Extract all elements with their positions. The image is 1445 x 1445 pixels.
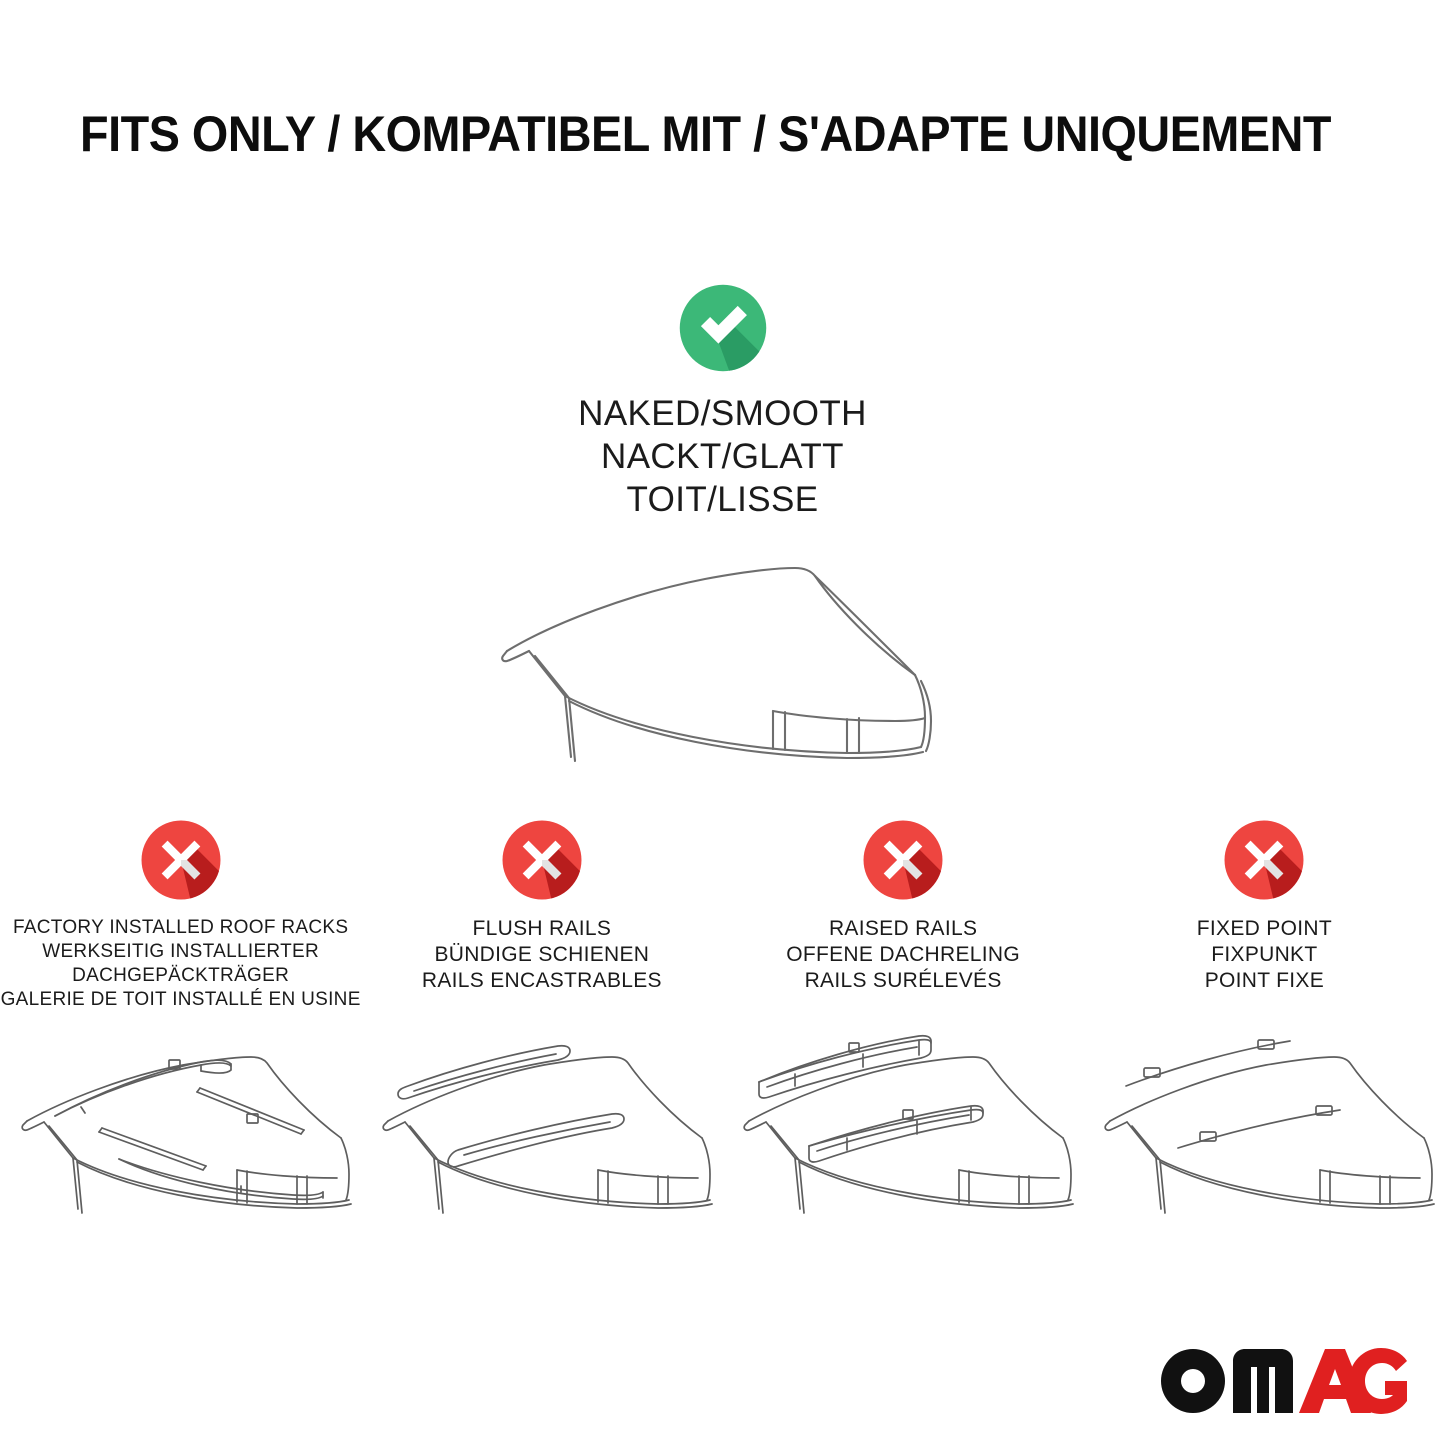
compatible-section: NAKED/SMOOTH NACKT/GLATT TOIT/LISSE [0,282,1445,785]
caption-line-fr: GALERIE DE TOIT INSTALLÉ EN USINE [1,988,361,1012]
caption-line-fr: POINT FIXE [1197,968,1332,994]
cross-circle-icon [1222,818,1306,902]
caption-line-en: RAISED RAILS [786,916,1020,942]
caption-line-fr: RAILS SURÉLEVÉS [786,968,1020,994]
incompatible-caption-factory-racks: FACTORY INSTALLED ROOF RACKS WERKSEITIG … [1,916,361,1020]
incompatible-caption-fixed-point: FIXED POINT FIXPUNKT POINT FIXE [1197,916,1332,1020]
caption-line-de: BÜNDIGE SCHIENEN [422,942,662,968]
omac-logo [1159,1343,1409,1419]
cross-circle-icon [500,818,584,902]
caption-line-de-1: WERKSEITIG INSTALLIERTER [1,940,361,964]
compatible-caption-line-fr: TOIT/LISSE [578,478,867,521]
car-roof-naked-smooth-illustration [443,535,1003,785]
logo-letter-m [1233,1349,1293,1413]
logo-letter-o [1161,1349,1225,1413]
page-title: FITS ONLY / KOMPATIBEL MIT / S'ADAPTE UN… [80,104,1286,164]
cross-circle-icon [861,818,945,902]
compatible-caption-line-de: NACKT/GLATT [578,435,867,478]
caption-line-de: OFFENE DACHRELING [786,942,1020,968]
car-roof-fixed-point-illustration [1084,1024,1444,1239]
cross-circle-icon [139,818,223,902]
incompatible-item-fixed-point: FIXED POINT FIXPUNKT POINT FIXE [1084,818,1445,1239]
car-roof-raised-rails-illustration [723,1024,1083,1239]
incompatible-item-factory-racks: FACTORY INSTALLED ROOF RACKS WERKSEITIG … [0,818,361,1239]
incompatible-caption-flush-rails: FLUSH RAILS BÜNDIGE SCHIENEN RAILS ENCAS… [422,916,662,1020]
check-circle-icon [677,282,769,374]
incompatible-caption-raised-rails: RAISED RAILS OFFENE DACHRELING RAILS SUR… [786,916,1020,1020]
caption-line-en: FIXED POINT [1197,916,1332,942]
caption-line-en: FACTORY INSTALLED ROOF RACKS [1,916,361,940]
incompatible-item-flush-rails: FLUSH RAILS BÜNDIGE SCHIENEN RAILS ENCAS… [361,818,722,1239]
car-roof-flush-rails-illustration [362,1024,722,1239]
caption-line-fr: RAILS ENCASTRABLES [422,968,662,994]
caption-line-en: FLUSH RAILS [422,916,662,942]
caption-line-de: FIXPUNKT [1197,942,1332,968]
incompatible-section: FACTORY INSTALLED ROOF RACKS WERKSEITIG … [0,818,1445,1239]
caption-line-de-2: DACHGEPÄCKTRÄGER [1,964,361,988]
compatible-caption: NAKED/SMOOTH NACKT/GLATT TOIT/LISSE [578,392,867,521]
compatible-caption-line-en: NAKED/SMOOTH [578,392,867,435]
incompatible-item-raised-rails: RAISED RAILS OFFENE DACHRELING RAILS SUR… [723,818,1084,1239]
car-roof-factory-racks-illustration [1,1024,361,1239]
